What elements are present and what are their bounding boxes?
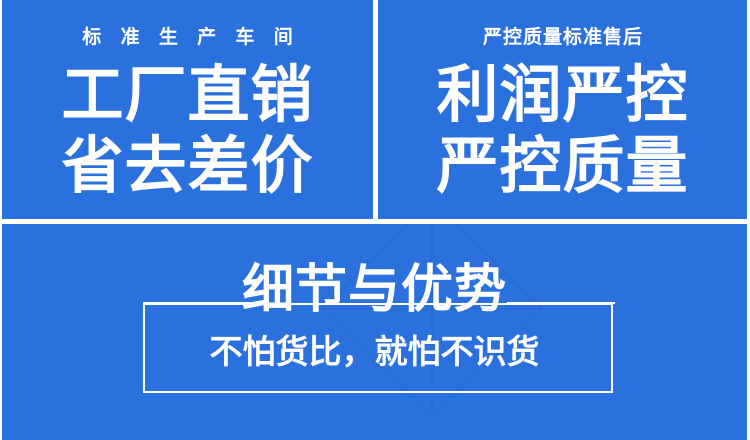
details-advantages-subtitle: 不怕货比，就怕不识货 [2,335,747,368]
quality-control-headline-line-2: 严控质量 [436,136,688,198]
details-advantages-title: 细节与优势 [2,264,747,316]
quality-control-headline-line-1: 利润严控 [436,65,688,127]
panel-quality-control: 严控质量标准售后 利润严控 严控质量 [378,0,747,219]
factory-direct-eyebrow: 标 准 生 产 车 间 [75,28,299,47]
panel-details-advantages: 细节与优势 不怕货比，就怕不识货 [2,224,747,440]
promo-banner: 标 准 生 产 车 间 工厂直销 省去差价 严控质量标准售后 利润严控 严控质量 [0,0,750,440]
panel-factory-direct: 标 准 生 产 车 间 工厂直销 省去差价 [2,0,373,219]
factory-direct-headline-line-1: 工厂直销 [61,65,313,127]
quality-control-eyebrow: 严控质量标准售后 [482,28,643,47]
top-panel-row: 标 准 生 产 车 间 工厂直销 省去差价 严控质量标准售后 利润严控 严控质量 [0,0,750,220]
panel-factory-direct-content: 标 准 生 产 车 间 工厂直销 省去差价 [2,0,373,219]
panel-quality-control-content: 严控质量标准售后 利润严控 严控质量 [378,0,747,219]
factory-direct-headline-line-2: 省去差价 [61,136,313,198]
